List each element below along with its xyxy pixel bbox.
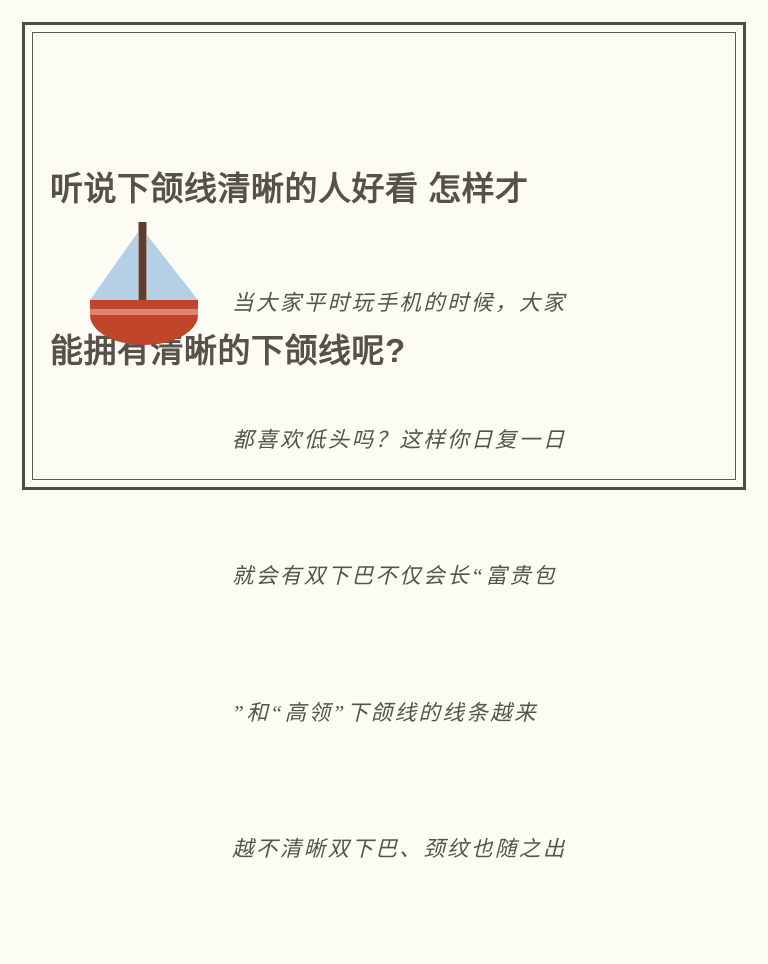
article-body: 当大家平时玩手机的时候，大家 都喜欢低头吗？这样你日复一日 就会有双下巴不仅会长…	[50, 190, 726, 480]
paragraph-line-2: 都喜欢低头吗？这样你日复一日	[232, 418, 662, 464]
card-content: 听说下颌线清晰的人好看 怎样才 能拥有清晰的下颌线呢?	[32, 32, 736, 480]
paragraph-line-4: ”和“高领”下颌线的线条越来	[232, 691, 662, 737]
sail-left-shape	[90, 232, 138, 300]
paragraph-line-3: 就会有双下巴不仅会长“富贵包	[232, 554, 662, 600]
sailboat-icon-graphic	[80, 208, 210, 348]
hull-top-shape	[90, 300, 198, 309]
paragraph-line-5: 越不清晰双下巴、颈纹也随之出	[232, 827, 662, 873]
article-paragraph: 当大家平时玩手机的时候，大家 都喜欢低头吗？这样你日复一日 就会有双下巴不仅会长…	[232, 190, 662, 964]
sailboat-icon	[80, 208, 210, 348]
sail-right-shape	[147, 235, 198, 300]
hull-stripe-shape	[90, 309, 198, 315]
paragraph-line-1: 当大家平时玩手机的时候，大家	[232, 281, 662, 327]
hull-shape	[90, 315, 198, 345]
mast-shape	[139, 222, 147, 304]
article-card: 听说下颌线清晰的人好看 怎样才 能拥有清晰的下颌线呢?	[0, 0, 768, 510]
